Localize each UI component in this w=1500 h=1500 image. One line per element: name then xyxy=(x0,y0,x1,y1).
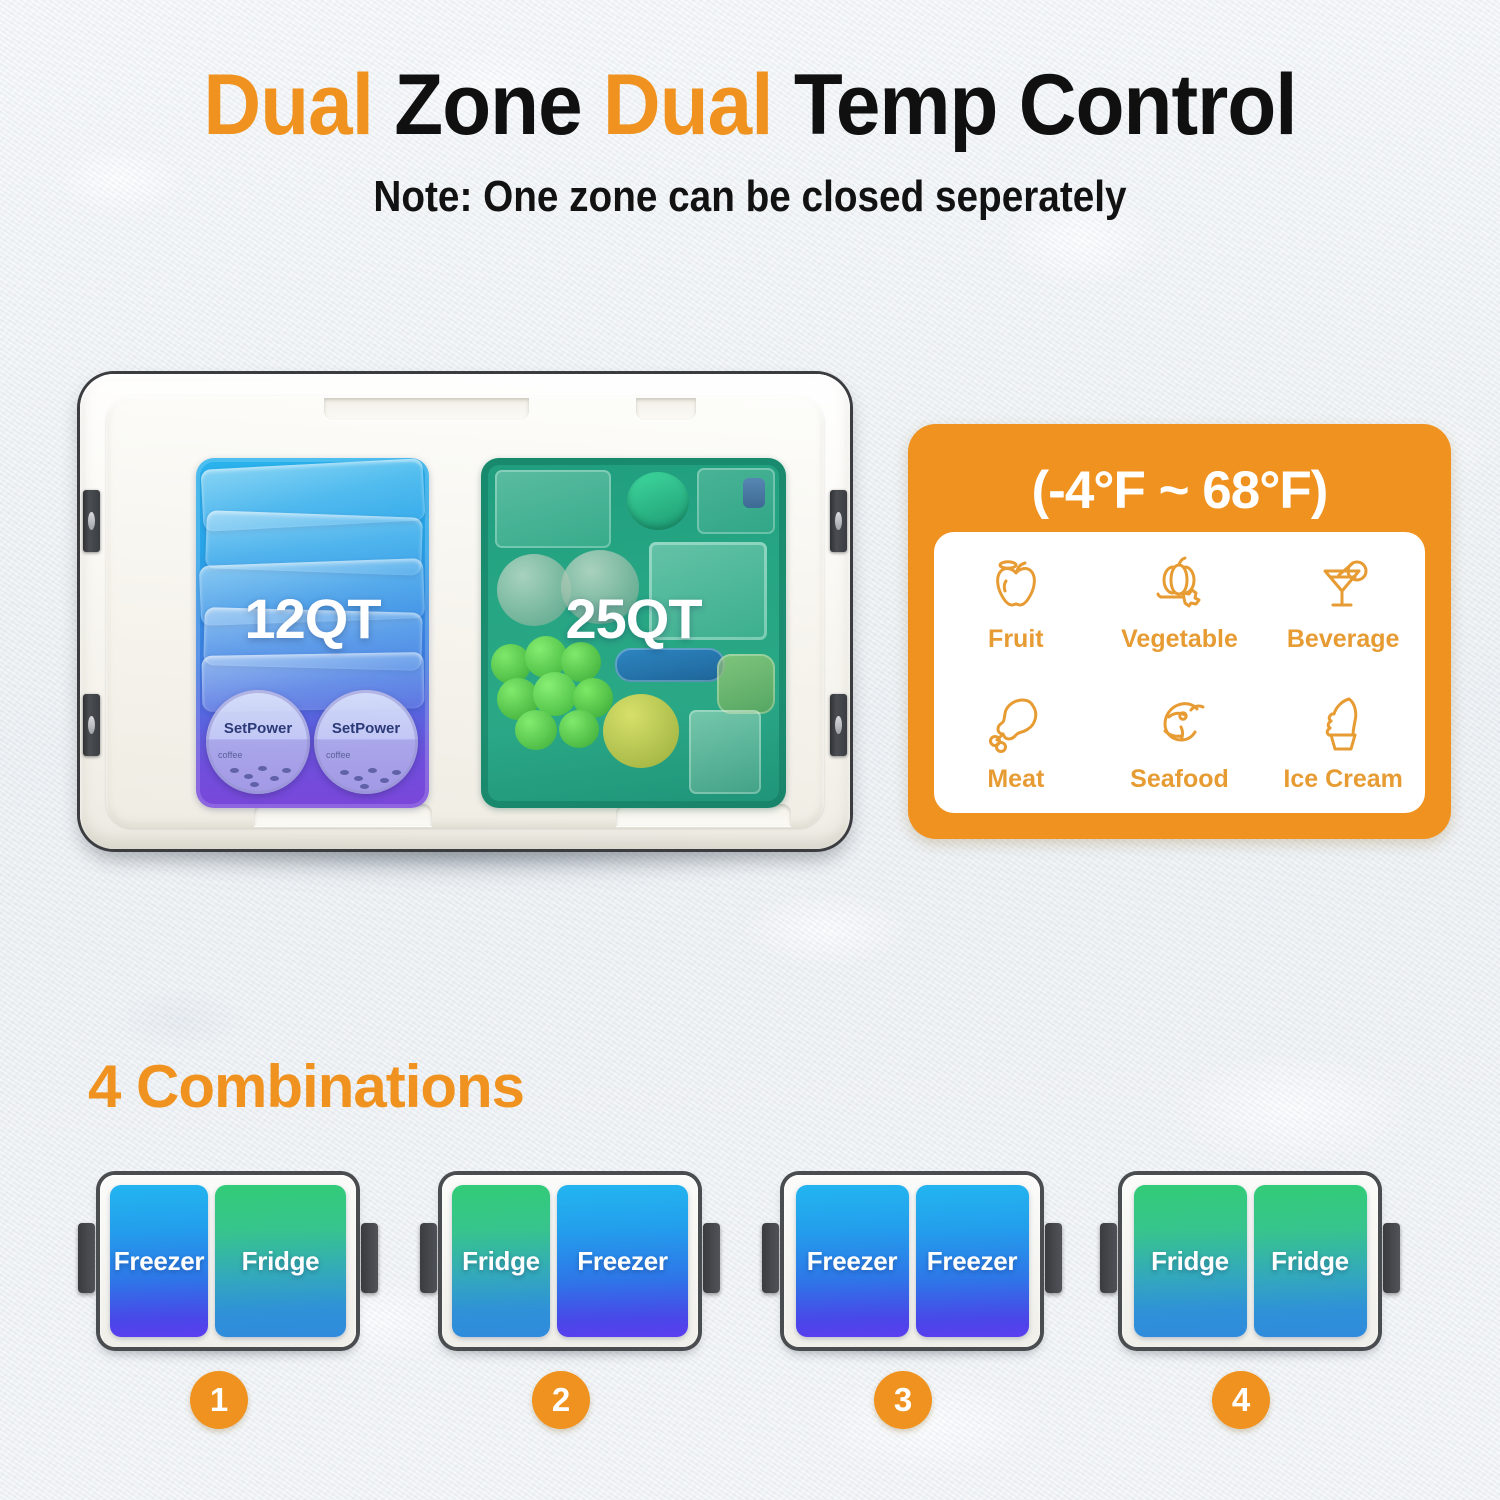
food-types-card: Fruit Vegetable xyxy=(934,532,1425,813)
food-type-ice-cream: Ice Cream xyxy=(1261,673,1425,814)
title-word: Control xyxy=(997,57,1296,153)
food-label: Vegetable xyxy=(1121,625,1238,654)
lid-notch-top-left xyxy=(324,398,529,420)
food-label: Beverage xyxy=(1287,625,1400,654)
handle-right-icon xyxy=(361,1223,378,1293)
ice-cream-icon xyxy=(1311,691,1375,755)
title-word: Dual xyxy=(203,57,373,153)
zone-panel-right: Freezer xyxy=(557,1185,688,1337)
handle-right-icon xyxy=(703,1223,720,1293)
unit-frame: Fridge Freezer xyxy=(442,1175,698,1347)
cooler-lid-face: SetPower coffee SetPower coffee xyxy=(106,396,824,828)
temperature-range-panel: (-4°F ~ 68°F) Fruit xyxy=(908,424,1451,839)
handle-left-icon xyxy=(78,1223,95,1293)
combination-badge: 1 xyxy=(190,1371,248,1429)
combination-card[interactable]: Fridge Fridge 4 xyxy=(1100,1175,1400,1347)
cooler-unit: Freezer Fridge xyxy=(78,1175,378,1347)
food-label: Ice Cream xyxy=(1283,765,1403,794)
zone-panel-label: Fridge xyxy=(242,1246,320,1277)
zone-panel-right: Freezer xyxy=(916,1185,1029,1337)
coffee-tub: SetPower coffee xyxy=(314,690,418,794)
tub-brand-label: SetPower xyxy=(314,720,418,737)
tub-brand-label: SetPower xyxy=(206,720,310,737)
zone-panel-label: Freezer xyxy=(927,1246,1017,1277)
food-item-grape xyxy=(515,710,557,750)
food-type-beverage: Beverage xyxy=(1261,532,1425,673)
unit-frame: Fridge Fridge xyxy=(1122,1175,1378,1347)
food-item-carton xyxy=(689,710,761,794)
handle-right-icon xyxy=(1383,1223,1400,1293)
food-item-grape xyxy=(559,710,599,748)
food-item-wrapped-snack xyxy=(615,648,725,682)
title-word: Dual xyxy=(582,57,773,153)
title-word: Zone xyxy=(373,57,582,153)
cooler-unit: Freezer Freezer xyxy=(762,1175,1062,1347)
hinge-left-bottom xyxy=(83,694,100,756)
food-item-jar-lid xyxy=(627,472,689,530)
food-item-bottle-cap xyxy=(743,478,765,508)
zone-panel-right: Fridge xyxy=(1254,1185,1367,1337)
fridge-compartment: 25QT xyxy=(481,458,786,808)
freezer-capacity-label: 12QT xyxy=(196,586,429,651)
food-label: Fruit xyxy=(988,625,1044,654)
food-item-leafy-greens xyxy=(717,654,775,714)
combination-badge: 2 xyxy=(532,1371,590,1429)
zone-panel-label: Fridge xyxy=(1151,1246,1229,1277)
cooler-body: SetPower coffee SetPower coffee xyxy=(80,374,850,849)
drumstick-icon xyxy=(984,691,1048,755)
handle-left-icon xyxy=(762,1223,779,1293)
combination-card[interactable]: Fridge Freezer 2 xyxy=(420,1175,720,1347)
hinge-right-top xyxy=(830,490,847,552)
page-title: Dual Zone Dual Temp Control xyxy=(53,0,1448,148)
food-type-meat: Meat xyxy=(934,673,1098,814)
food-item-melon xyxy=(603,694,679,768)
shrimp-icon xyxy=(1147,691,1211,755)
hinge-right-bottom xyxy=(830,694,847,756)
tub-sub-label: coffee xyxy=(326,750,350,760)
temperature-range-label: (-4°F ~ 68°F) xyxy=(908,460,1451,521)
combination-card[interactable]: Freezer Freezer 3 xyxy=(762,1175,1062,1347)
food-type-seafood: Seafood xyxy=(1098,673,1262,814)
food-type-vegetable: Vegetable xyxy=(1098,532,1262,673)
zone-panel-left: Freezer xyxy=(796,1185,909,1337)
zone-panel-label: Fridge xyxy=(462,1246,540,1277)
apple-icon xyxy=(984,551,1048,615)
handle-right-icon xyxy=(1045,1223,1062,1293)
combinations-row: Freezer Fridge 1 Fridge xyxy=(0,1175,1500,1495)
handle-left-icon xyxy=(420,1223,437,1293)
zone-panel-label: Freezer xyxy=(807,1246,897,1277)
zone-panel-left: Freezer xyxy=(110,1185,208,1337)
zone-panel-label: Fridge xyxy=(1271,1246,1349,1277)
title-word: Temp xyxy=(773,57,998,153)
cooler-unit: Fridge Fridge xyxy=(1100,1175,1400,1347)
combination-badge: 3 xyxy=(874,1371,932,1429)
cooler-unit: Fridge Freezer xyxy=(420,1175,720,1347)
pumpkin-icon xyxy=(1147,551,1211,615)
page-subtitle: Note: One zone can be closed seperately xyxy=(90,172,1410,222)
food-types-grid: Fruit Vegetable xyxy=(934,532,1425,813)
tub-sub-label: coffee xyxy=(218,750,242,760)
unit-frame: Freezer Freezer xyxy=(784,1175,1040,1347)
combination-badge: 4 xyxy=(1212,1371,1270,1429)
combination-card[interactable]: Freezer Fridge 1 xyxy=(78,1175,378,1347)
freezer-compartment: SetPower coffee SetPower coffee xyxy=(196,458,429,808)
combinations-heading: 4 Combinations xyxy=(88,1052,524,1121)
unit-frame: Freezer Fridge xyxy=(100,1175,356,1347)
food-label: Seafood xyxy=(1130,765,1229,794)
food-type-fruit: Fruit xyxy=(934,532,1098,673)
zone-panel-left: Fridge xyxy=(1134,1185,1247,1337)
header: Dual Zone Dual Temp Control Note: One zo… xyxy=(0,0,1500,222)
coffee-tub: SetPower coffee xyxy=(206,690,310,794)
fridge-capacity-label: 25QT xyxy=(481,586,786,651)
hinge-left-top xyxy=(83,490,100,552)
food-item-can xyxy=(495,470,611,548)
handle-left-icon xyxy=(1100,1223,1117,1293)
infographic-page: Dual Zone Dual Temp Control Note: One zo… xyxy=(0,0,1500,1500)
cocktail-icon xyxy=(1311,551,1375,615)
zone-panel-right: Fridge xyxy=(215,1185,346,1337)
food-label: Meat xyxy=(987,765,1044,794)
zone-panel-label: Freezer xyxy=(577,1246,667,1277)
zone-panel-label: Freezer xyxy=(114,1246,204,1277)
zone-panel-left: Fridge xyxy=(452,1185,550,1337)
cooler-illustration: SetPower coffee SetPower coffee xyxy=(64,364,864,864)
lid-notch-top-right xyxy=(636,398,696,420)
